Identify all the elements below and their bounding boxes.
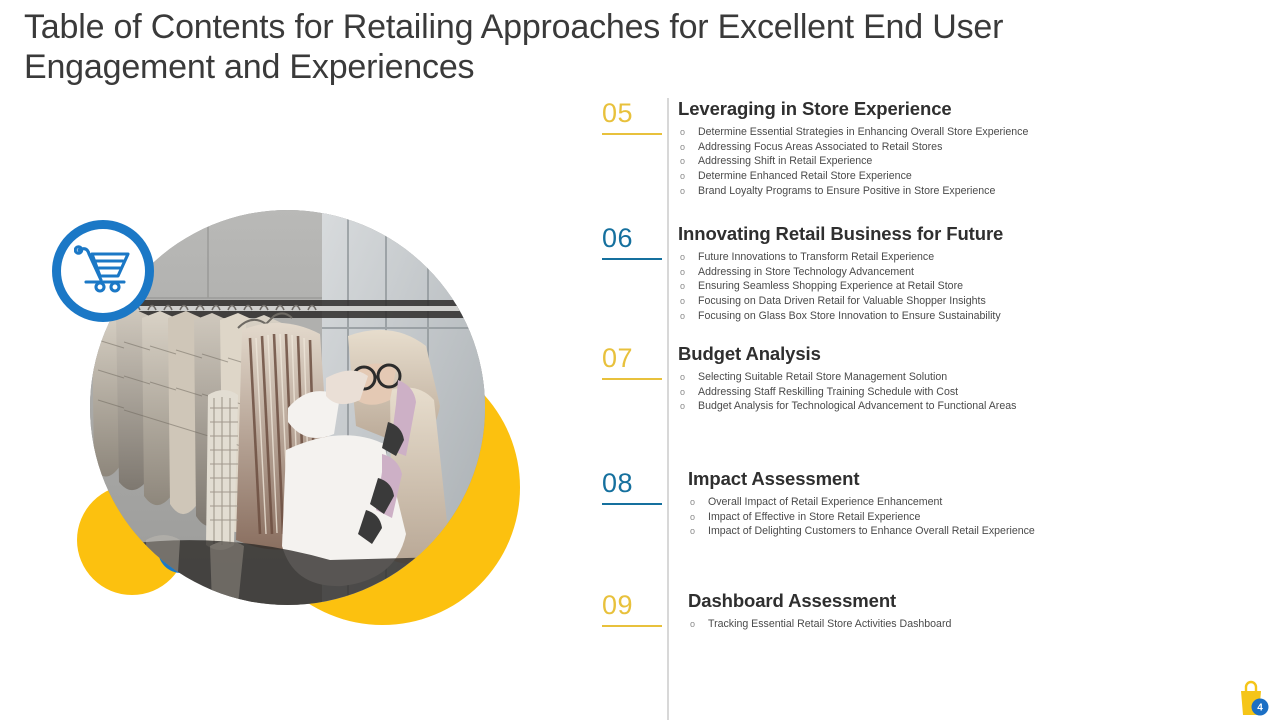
list-item: Tracking Essential Retail Store Activiti… [688, 617, 1263, 632]
toc-heading-09: Dashboard Assessment [688, 590, 1263, 611]
list-item: Focusing on Data Driven Retail for Valua… [678, 294, 1253, 309]
list-item: Addressing Focus Areas Associated to Ret… [678, 140, 1253, 155]
toc-heading-05: Leveraging in Store Experience [678, 98, 1253, 119]
list-item: Addressing in Store Technology Advanceme… [678, 265, 1253, 280]
list-item: Future Innovations to Transform Retail E… [678, 250, 1253, 265]
vertical-divider [667, 98, 669, 720]
shopping-cart-icon [74, 244, 132, 299]
toc-bullets-05: Determine Essential Strategies in Enhanc… [678, 125, 1253, 198]
toc-number-08: 08 [602, 468, 662, 505]
list-item: Determine Essential Strategies in Enhanc… [678, 125, 1253, 140]
toc-number-07: 07 [602, 343, 662, 380]
badge-count: 4 [1257, 703, 1263, 714]
toc-heading-08: Impact Assessment [688, 468, 1263, 489]
toc-bullets-08: Overall Impact of Retail Experience Enha… [688, 495, 1263, 539]
toc-heading-07: Budget Analysis [678, 343, 1253, 364]
list-item: Overall Impact of Retail Experience Enha… [688, 495, 1263, 510]
list-item: Budget Analysis for Technological Advanc… [678, 399, 1253, 414]
list-item: Ensuring Seamless Shopping Experience at… [678, 279, 1253, 294]
toc-bullets-06: Future Innovations to Transform Retail E… [678, 250, 1253, 323]
toc-number-05: 05 [602, 98, 662, 135]
visual-cluster [40, 195, 560, 625]
toc-bullets-09: Tracking Essential Retail Store Activiti… [688, 617, 1263, 632]
list-item: Selecting Suitable Retail Store Manageme… [678, 370, 1253, 385]
toc-number-06: 06 [602, 223, 662, 260]
list-item: Brand Loyalty Programs to Ensure Positiv… [678, 184, 1253, 199]
list-item: Impact of Effective in Store Retail Expe… [688, 510, 1263, 525]
list-item: Impact of Delighting Customers to Enhanc… [688, 524, 1263, 539]
shopping-cart-badge [52, 220, 154, 322]
list-item: Addressing Shift in Retail Experience [678, 154, 1253, 169]
list-item: Focusing on Glass Box Store Innovation t… [678, 309, 1253, 324]
toc-number-09: 09 [602, 590, 662, 627]
toc-bullets-07: Selecting Suitable Retail Store Manageme… [678, 370, 1253, 414]
list-item: Determine Enhanced Retail Store Experien… [678, 169, 1253, 184]
page-title: Table of Contents for Retailing Approach… [24, 8, 1134, 88]
list-item: Addressing Staff Reskilling Training Sch… [678, 385, 1253, 400]
shopping-bag-badge[interactable]: 4 [1230, 676, 1272, 718]
toc-heading-06: Innovating Retail Business for Future [678, 223, 1253, 244]
